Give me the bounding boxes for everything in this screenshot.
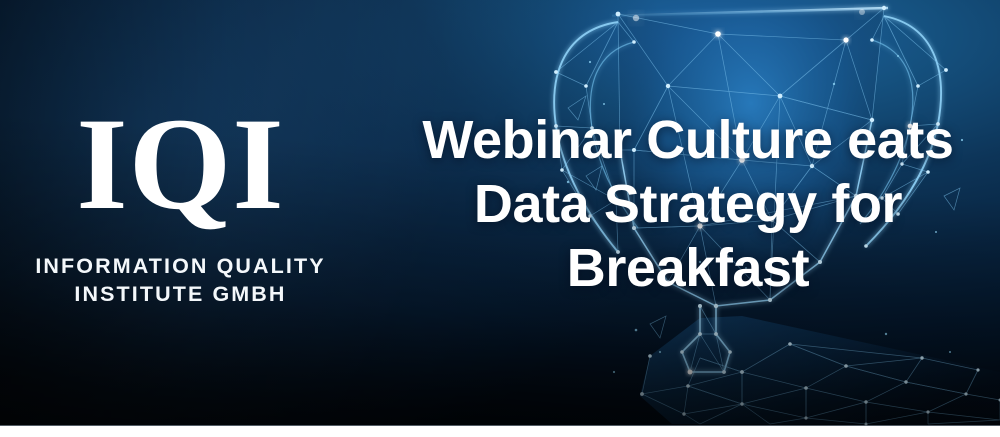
iqi-monogram-text: IQI: [76, 104, 284, 236]
iqi-monogram-icon: IQI: [73, 104, 288, 236]
webinar-headline: Webinar Culture eats Data Strategy for B…: [388, 108, 988, 300]
iqi-logo: IQI INFORMATION QUALITY INSTITUTE GMBH: [8, 104, 353, 308]
webinar-banner: IQI INFORMATION QUALITY INSTITUTE GMBH W…: [0, 0, 1000, 437]
headline-line-2: Data Strategy for: [388, 172, 988, 236]
logo-tagline-line1: INFORMATION QUALITY: [8, 252, 353, 280]
headline-line-1: Webinar Culture eats: [388, 108, 988, 172]
footer-strip: [0, 426, 1000, 437]
logo-tagline-line2: INSTITUTE GMBH: [8, 280, 353, 308]
headline-line-3: Breakfast: [388, 236, 988, 300]
